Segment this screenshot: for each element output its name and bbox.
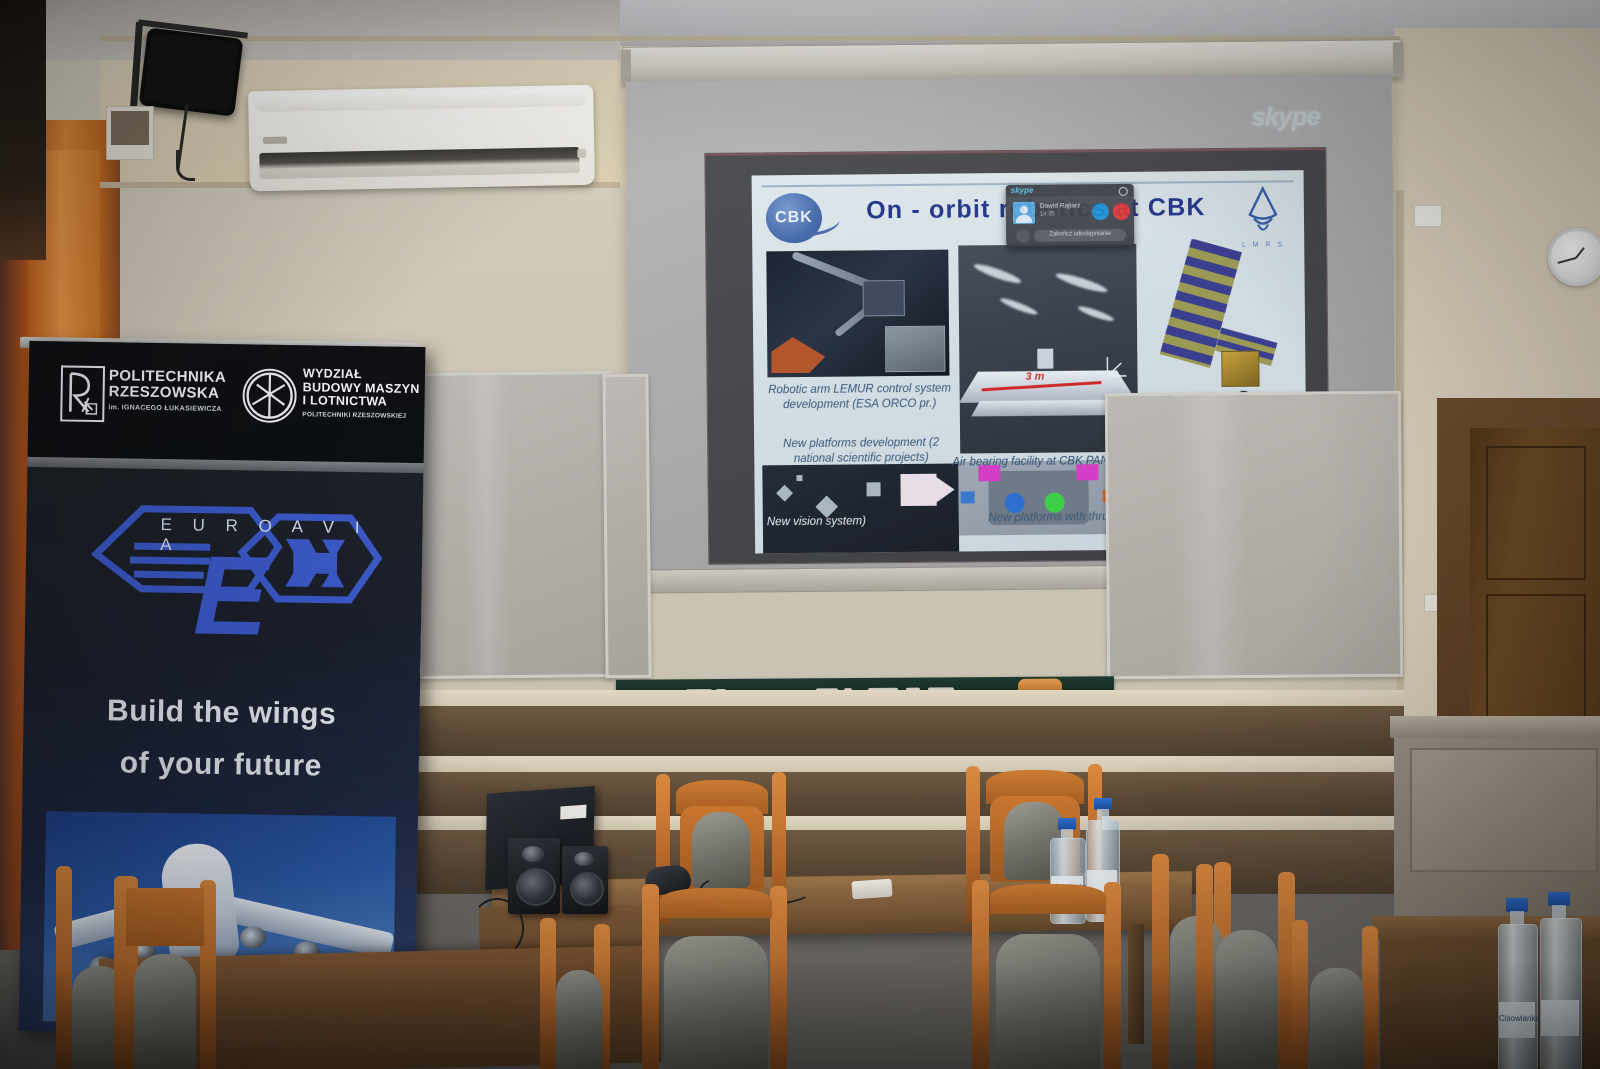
ceiling-light-streak-2	[1054, 270, 1108, 295]
presentation-remote[interactable]	[851, 879, 892, 900]
wall-band-dark-1	[404, 706, 1404, 758]
podium-top-surface	[1390, 716, 1600, 738]
chair-post-left	[972, 880, 989, 1069]
clock-minute-hand	[1557, 257, 1576, 264]
microphone-icon[interactable]	[1016, 229, 1030, 243]
skype-logo-icon: skype	[1011, 186, 1034, 195]
whiteboard-left-edge-panel	[602, 374, 651, 678]
caption-lemur: Robotic arm LEMUR control system develop…	[764, 382, 956, 414]
chair-front-3	[530, 918, 630, 1069]
skype-watermark: skype	[1251, 101, 1320, 133]
projector-cable-loop	[176, 150, 195, 181]
banner-tagline-line2: of your future	[23, 745, 419, 785]
caption-vision-system: New vision system)	[767, 514, 897, 530]
satellite-body	[1221, 351, 1259, 387]
bottle-cap	[1548, 892, 1570, 906]
podium-front-panel	[1410, 748, 1598, 872]
avatar	[1013, 202, 1035, 224]
chair-back-pad	[556, 970, 602, 1069]
gear-icon[interactable]	[1119, 187, 1128, 196]
banner-tagline-line1: Build the wings	[23, 693, 419, 733]
vision-marker-1	[776, 485, 793, 502]
chair-post-left	[1152, 854, 1169, 1069]
video-call-icon[interactable]	[1092, 203, 1109, 220]
bottle-cap	[1506, 898, 1528, 912]
avatar-head	[1020, 206, 1028, 214]
skype-call-timer: 14:35	[1040, 212, 1055, 218]
clock-hour-hand	[1575, 247, 1585, 258]
speaker-left	[508, 838, 560, 914]
banner-university-line2: RZESZOWSKA	[109, 383, 220, 402]
wall-clock	[1548, 228, 1600, 286]
chair-front-4	[620, 884, 800, 1069]
stop-sharing-label: Zakończ udostępnianie	[1034, 231, 1126, 238]
ac-top-cover	[254, 89, 586, 112]
bottle-neck	[1552, 905, 1566, 919]
desktop-top-edge	[705, 148, 1325, 156]
photo-lemur-arm	[766, 250, 949, 378]
euroavia-logo: E U R O A V I A E	[80, 492, 383, 677]
ceiling-light-streak-3	[999, 296, 1039, 317]
chair-back-pad	[134, 954, 196, 1069]
chair-back-pad	[664, 936, 768, 1069]
skype-contact-name: Dawid Rajtarz	[1040, 202, 1081, 209]
wall-junction-inner	[111, 111, 149, 145]
chair-back-pad	[1310, 968, 1364, 1069]
air-bearing-table-base	[971, 400, 1124, 417]
euroavia-monogram: E	[193, 546, 269, 647]
bottle-body	[1540, 918, 1582, 1069]
speaker-left-tweeter	[522, 846, 544, 862]
dimension-label: 3 m	[1025, 371, 1044, 383]
chair-crest	[990, 884, 1106, 914]
chair-front-8	[1284, 920, 1394, 1069]
chair-post-left	[540, 918, 556, 1069]
vision-marker-3	[867, 482, 881, 496]
chair-post-right	[1362, 926, 1378, 1069]
chair-post-left	[642, 884, 659, 1069]
ceiling-shadow	[0, 0, 620, 60]
door-panel-upper	[1486, 446, 1586, 580]
hang-up-icon[interactable]	[1113, 203, 1130, 220]
chair-post-right	[1104, 882, 1121, 1069]
bottle-neck	[1510, 911, 1524, 925]
skype-call-popup[interactable]: skype Dawid Rajtarz 14:35 Zakończ udostę…	[1006, 184, 1135, 247]
whiteboard-glare-right	[1172, 395, 1250, 676]
ceiling-light-streak-4	[1077, 304, 1115, 323]
projector-lens-face	[143, 32, 239, 112]
vision-arrow-box	[900, 474, 936, 506]
screen-casing-end-left	[621, 50, 631, 82]
banner-university-name: POLITECHNIKA RZESZOWSKA	[109, 368, 227, 402]
door[interactable]	[1470, 428, 1600, 758]
chair-front-2	[96, 876, 236, 1069]
stop-sharing-button[interactable]: Zakończ udostępnianie	[1034, 229, 1126, 242]
ac-indicator-led	[577, 149, 586, 158]
platform-port-left	[961, 491, 975, 503]
coordinate-axes-icon	[1103, 354, 1129, 380]
vision-arrow-icon	[934, 476, 954, 504]
politechnika-rzeszowska-logo-icon	[60, 365, 105, 422]
chair-front-5	[950, 880, 1136, 1069]
speaker-right-tweeter	[574, 852, 594, 866]
ac-brand-badge	[263, 137, 287, 144]
bottle-body	[1498, 924, 1538, 1069]
screen-casing-end-right	[1393, 42, 1403, 74]
banner-faculty-name: WYDZIAŁ BUDOWY MASZYN I LOTNICTWA	[302, 367, 419, 409]
vision-marker-5	[796, 475, 802, 481]
whiteboard-glare	[460, 375, 513, 676]
air-bearing-robot	[1037, 349, 1053, 369]
speaker-right-woofer	[570, 872, 604, 906]
ceiling-projector	[139, 27, 244, 116]
thermostat[interactable]	[1414, 205, 1442, 227]
caption-new-platforms: New platforms development (2 national sc…	[762, 435, 960, 467]
whiteboard-left	[415, 371, 614, 679]
wall-junction-box	[106, 106, 154, 160]
avatar-body	[1016, 215, 1032, 223]
chair-crest	[660, 888, 772, 918]
ceiling-light-streak-1	[972, 261, 1022, 286]
ac-air-vent	[259, 147, 579, 179]
lecture-hall-photo: skype CBK On - orbit robotics at CBK L M…	[0, 0, 1600, 1069]
bottle-label	[1541, 1000, 1579, 1036]
lemur-photo-inset	[885, 326, 945, 373]
speaker-right	[562, 846, 608, 914]
air-conditioner	[248, 85, 595, 192]
banner-faculty-line3: I LOTNICTWA	[302, 393, 387, 408]
lemur-controller-box	[863, 280, 905, 316]
speaker-left-woofer	[516, 868, 556, 906]
dark-corner	[0, 0, 46, 260]
laptop-sticker	[560, 805, 586, 820]
bottle-label: Cisowianka	[1499, 1002, 1535, 1038]
chair-post-left	[1196, 864, 1213, 1069]
chair-post-right	[770, 886, 787, 1069]
lemur-orange-object	[771, 337, 825, 374]
chair-post-left	[1292, 920, 1308, 1069]
bottle-brand-label: Cisowianka	[1499, 1014, 1535, 1023]
chair-back-pad	[996, 934, 1100, 1069]
chair-back-pad	[1216, 930, 1278, 1069]
chair-backrest	[126, 888, 204, 946]
chair-post-left	[56, 866, 72, 1069]
whiteboard-right	[1105, 391, 1403, 680]
